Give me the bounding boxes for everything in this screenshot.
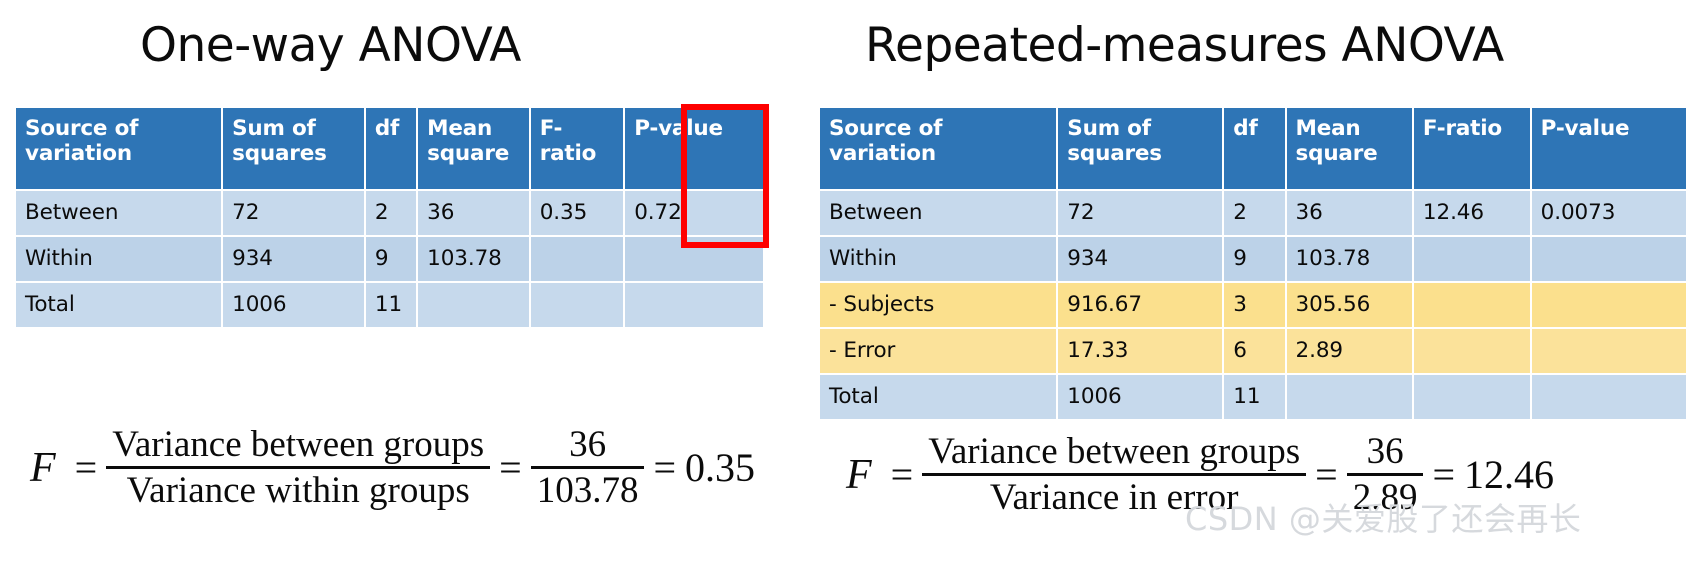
- cell-p-value: [625, 283, 763, 327]
- column-header-p-value: P-value: [625, 108, 763, 189]
- column-header-f-ratio: F-ratio: [1414, 108, 1530, 189]
- column-header-f-ratio: F-ratio: [531, 108, 624, 189]
- table-header-row: Source of variation Sum of squares df Me…: [16, 108, 763, 189]
- fraction-bar-icon: [922, 473, 1306, 476]
- column-header-mean-square: Mean square: [1287, 108, 1412, 189]
- formula-denominator-words: Variance within groups: [121, 471, 476, 510]
- cell-sum-squares: 17.33: [1058, 329, 1222, 373]
- cell-f-ratio: [1414, 375, 1530, 419]
- column-header-source-of-variation: Source of variation: [820, 108, 1056, 189]
- cell-source: Within: [820, 237, 1056, 281]
- page-title-one-way-anova: One-way ANOVA: [140, 18, 521, 73]
- table-row-subjects: - Subjects 916.67 3 305.56: [820, 283, 1686, 327]
- cell-f-ratio: [531, 283, 624, 327]
- column-header-df: df: [366, 108, 416, 189]
- cell-f-ratio: 0.35: [531, 191, 624, 235]
- cell-sum-squares: 916.67: [1058, 283, 1222, 327]
- formula-equals-3: =: [644, 444, 685, 491]
- cell-sum-squares: 934: [1058, 237, 1222, 281]
- formula-equals-3: =: [1423, 451, 1464, 498]
- table-row: Between 72 2 36 0.35 0.72: [16, 191, 763, 235]
- cell-df: 9: [366, 237, 416, 281]
- formula-equals-1: =: [882, 451, 923, 498]
- column-header-sum-of-squares: Sum of squares: [1058, 108, 1222, 189]
- column-header-df: df: [1224, 108, 1284, 189]
- cell-df: 2: [1224, 191, 1284, 235]
- formula-variable-f: F: [30, 444, 66, 492]
- cell-mean-square: 103.78: [418, 237, 529, 281]
- column-header-source-of-variation: Source of variation: [16, 108, 221, 189]
- cell-mean-square: [418, 283, 529, 327]
- table-row: Total 1006 11: [16, 283, 763, 327]
- cell-source: Between: [820, 191, 1056, 235]
- formula-equals-1: =: [66, 444, 107, 491]
- cell-sum-squares: 72: [1058, 191, 1222, 235]
- table-row: Between 72 2 36 12.46 0.0073: [820, 191, 1686, 235]
- cell-df: 11: [366, 283, 416, 327]
- cell-source: Within: [16, 237, 221, 281]
- cell-f-ratio: [1414, 329, 1530, 373]
- cell-f-ratio: 12.46: [1414, 191, 1530, 235]
- cell-df: 11: [1224, 375, 1284, 419]
- formula-numerator-words: Variance between groups: [922, 432, 1306, 471]
- one-way-anova-table: Source of variation Sum of squares df Me…: [14, 106, 765, 329]
- formula-fraction-numbers: 36 103.78: [531, 425, 645, 510]
- cell-sum-squares: 1006: [1058, 375, 1222, 419]
- formula-numerator-number: 36: [1361, 432, 1410, 471]
- cell-mean-square: 2.89: [1287, 329, 1412, 373]
- fraction-bar-icon: [531, 466, 645, 469]
- csdn-watermark: CSDN @关爱股了还会再长: [1185, 494, 1581, 540]
- formula-fraction-words: Variance between groups Variance within …: [106, 425, 490, 510]
- table-row-error: - Error 17.33 6 2.89: [820, 329, 1686, 373]
- formula-numerator-words: Variance between groups: [106, 425, 490, 464]
- formula-result: 12.46: [1464, 451, 1554, 498]
- column-header-mean-square: Mean square: [418, 108, 529, 189]
- cell-f-ratio: [1414, 237, 1530, 281]
- cell-p-value: [1532, 375, 1686, 419]
- cell-df: 2: [366, 191, 416, 235]
- cell-p-value: [1532, 237, 1686, 281]
- formula-result: 0.35: [685, 444, 755, 491]
- fraction-bar-icon: [106, 466, 490, 469]
- repeated-measures-anova-table: Source of variation Sum of squares df Me…: [818, 106, 1688, 421]
- formula-equals-2: =: [1306, 451, 1347, 498]
- cell-sum-squares: 1006: [223, 283, 364, 327]
- cell-p-value: [1532, 329, 1686, 373]
- table-row: Total 1006 11: [820, 375, 1686, 419]
- cell-p-value: 0.0073: [1532, 191, 1686, 235]
- column-header-p-value: P-value: [1532, 108, 1686, 189]
- cell-df: 3: [1224, 283, 1284, 327]
- page-title-repeated-measures-anova: Repeated-measures ANOVA: [865, 18, 1504, 73]
- formula-equals-2: =: [490, 444, 531, 491]
- column-header-sum-of-squares: Sum of squares: [223, 108, 364, 189]
- cell-f-ratio: [531, 237, 624, 281]
- cell-p-value: [625, 237, 763, 281]
- table-row: Within 934 9 103.78: [820, 237, 1686, 281]
- fraction-bar-icon: [1347, 473, 1424, 476]
- cell-mean-square: 305.56: [1287, 283, 1412, 327]
- cell-source: Total: [16, 283, 221, 327]
- cell-f-ratio: [1414, 283, 1530, 327]
- cell-mean-square: 103.78: [1287, 237, 1412, 281]
- cell-source: Total: [820, 375, 1056, 419]
- cell-mean-square: 36: [1287, 191, 1412, 235]
- cell-df: 9: [1224, 237, 1284, 281]
- cell-p-value: [1532, 283, 1686, 327]
- cell-p-value: 0.72: [625, 191, 763, 235]
- formula-denominator-number: 103.78: [531, 471, 645, 510]
- cell-mean-square: [1287, 375, 1412, 419]
- table-row: Within 934 9 103.78: [16, 237, 763, 281]
- cell-source: - Subjects: [820, 283, 1056, 327]
- f-ratio-formula-one-way: F = Variance between groups Variance wit…: [30, 425, 755, 510]
- cell-source: - Error: [820, 329, 1056, 373]
- cell-df: 6: [1224, 329, 1284, 373]
- cell-sum-squares: 934: [223, 237, 364, 281]
- cell-source: Between: [16, 191, 221, 235]
- formula-variable-f: F: [846, 451, 882, 499]
- cell-mean-square: 36: [418, 191, 529, 235]
- cell-sum-squares: 72: [223, 191, 364, 235]
- formula-numerator-number: 36: [563, 425, 612, 464]
- table-header-row: Source of variation Sum of squares df Me…: [820, 108, 1686, 189]
